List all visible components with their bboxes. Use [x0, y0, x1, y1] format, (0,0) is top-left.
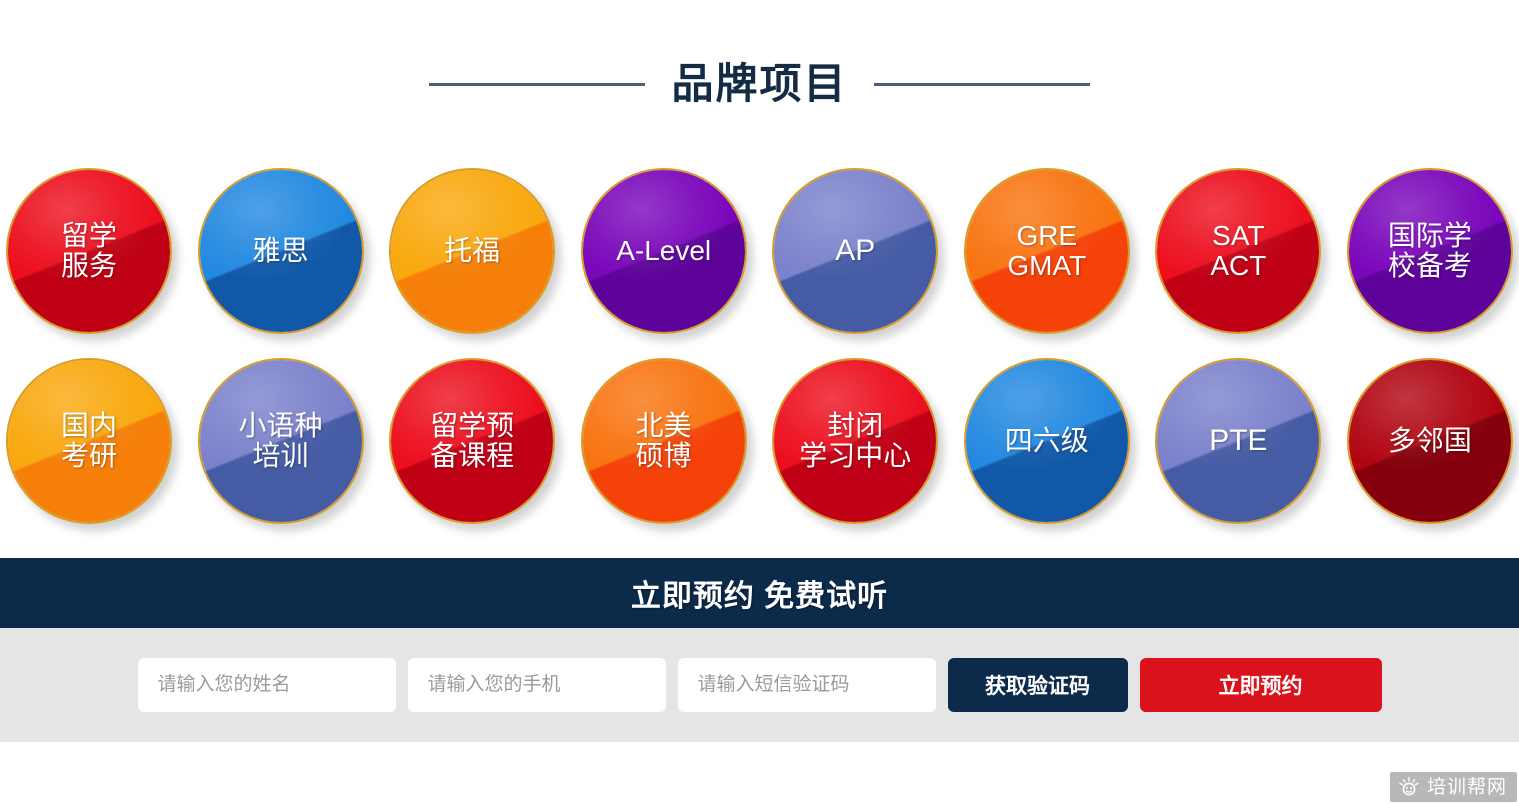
program-bubble-label: PTE: [1207, 425, 1269, 457]
program-bubble-label: AP: [833, 235, 877, 267]
phone-input[interactable]: [408, 658, 666, 712]
program-bubble[interactable]: 国际学 校备考: [1347, 168, 1513, 334]
program-bubble-label: GRE GMAT: [1005, 221, 1088, 281]
program-bubble[interactable]: 留学预 备课程: [389, 358, 555, 524]
program-bubble[interactable]: 四六级: [964, 358, 1130, 524]
program-bubble[interactable]: 北美 硕博: [581, 358, 747, 524]
watermark-text: 培训帮网: [1427, 778, 1507, 797]
program-bubble-label: SAT ACT: [1208, 221, 1268, 281]
program-bubble[interactable]: 托福: [389, 168, 555, 334]
program-bubble-label: 四六级: [1003, 426, 1091, 456]
heading-title: 品牌项目: [671, 63, 847, 105]
program-bubble[interactable]: A-Level: [581, 168, 747, 334]
program-bubble-label: 多邻国: [1386, 426, 1474, 456]
program-bubble[interactable]: 多邻国: [1347, 358, 1513, 524]
program-bubble[interactable]: 国内 考研: [6, 358, 172, 524]
sun-face-icon: [1398, 777, 1420, 797]
program-row-2: 国内 考研小语种 培训留学预 备课程北美 硕博封闭 学习中心四六级PTE多邻国: [0, 358, 1519, 524]
submit-booking-button[interactable]: 立即预约: [1140, 658, 1382, 712]
site-watermark: 培训帮网: [1390, 772, 1517, 802]
program-bubble-label: 留学预 备课程: [428, 411, 516, 471]
program-bubble-label: 封闭 学习中心: [797, 411, 913, 471]
page-title: 品牌项目: [0, 0, 1519, 168]
cta-banner: 立即预约 免费试听: [0, 558, 1519, 628]
program-row-1: 留学 服务雅思托福A-LevelAPGRE GMATSAT ACT国际学 校备考: [0, 168, 1519, 334]
program-bubble-label: A-Level: [614, 236, 713, 266]
program-bubble-label: 小语种 培训: [237, 411, 325, 471]
program-bubble-label: 国际学 校备考: [1386, 221, 1474, 281]
program-bubble[interactable]: 留学 服务: [6, 168, 172, 334]
sms-code-input[interactable]: [678, 658, 936, 712]
program-bubble[interactable]: 封闭 学习中心: [772, 358, 938, 524]
program-bubble-label: 北美 硕博: [634, 411, 694, 471]
cta-banner-text: 立即预约 免费试听: [631, 571, 888, 615]
program-bubble[interactable]: GRE GMAT: [964, 168, 1130, 334]
program-bubble-label: 雅思: [251, 236, 311, 266]
program-bubble[interactable]: SAT ACT: [1155, 168, 1321, 334]
program-bubble-label: 留学 服务: [59, 221, 119, 281]
booking-form: 获取验证码 立即预约: [0, 628, 1519, 742]
heading-rule-left: [429, 83, 645, 86]
name-input[interactable]: [138, 658, 396, 712]
program-grid: 留学 服务雅思托福A-LevelAPGRE GMATSAT ACT国际学 校备考…: [0, 168, 1519, 524]
heading-rule-right: [874, 83, 1090, 86]
program-bubble-label: 国内 考研: [59, 411, 119, 471]
program-bubble-label: 托福: [442, 236, 502, 266]
program-bubble[interactable]: 雅思: [198, 168, 364, 334]
get-code-button[interactable]: 获取验证码: [948, 658, 1128, 712]
program-bubble[interactable]: PTE: [1155, 358, 1321, 524]
program-bubble[interactable]: AP: [772, 168, 938, 334]
program-bubble[interactable]: 小语种 培训: [198, 358, 364, 524]
